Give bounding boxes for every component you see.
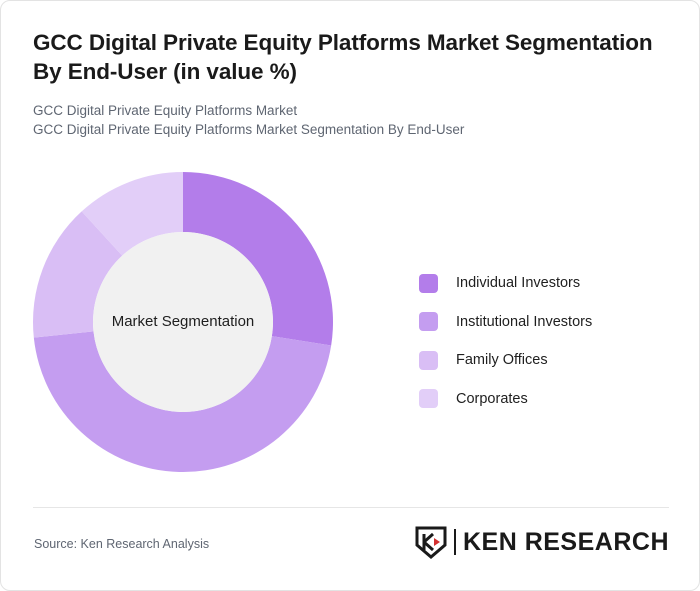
ken-research-logo: KEN RESEARCH xyxy=(414,525,669,559)
chart-card: GCC Digital Private Equity Platforms Mar… xyxy=(0,0,700,591)
legend-swatch xyxy=(419,312,438,331)
subtitle-block: GCC Digital Private Equity Platforms Mar… xyxy=(33,101,653,140)
chart-subtitle-line-1: GCC Digital Private Equity Platforms Mar… xyxy=(33,101,653,121)
donut-chart: Market Segmentation xyxy=(25,170,365,490)
page-title: GCC Digital Private Equity Platforms Mar… xyxy=(33,29,653,87)
ken-shield-icon xyxy=(414,525,448,559)
legend-swatch xyxy=(419,351,438,370)
legend-item[interactable]: Family Offices xyxy=(419,341,592,380)
footer-divider xyxy=(33,507,669,508)
legend-item[interactable]: Institutional Investors xyxy=(419,303,592,342)
logo-divider xyxy=(454,529,456,555)
legend-item-label: Institutional Investors xyxy=(456,314,592,330)
legend-item-label: Individual Investors xyxy=(456,275,580,291)
source-note: Source: Ken Research Analysis xyxy=(34,537,209,551)
chart-header: GCC Digital Private Equity Platforms Mar… xyxy=(33,29,653,140)
legend-item[interactable]: Individual Investors xyxy=(419,264,592,303)
chart-subtitle-line-2: GCC Digital Private Equity Platforms Mar… xyxy=(33,120,653,140)
legend-swatch xyxy=(419,274,438,293)
legend-swatch xyxy=(419,389,438,408)
donut-center-label: Market Segmentation xyxy=(112,313,255,330)
brand-wordmark: KEN RESEARCH xyxy=(463,528,669,557)
plot-area: Market Segmentation Individual Investors… xyxy=(1,161,700,501)
chart-legend: Individual InvestorsInstitutional Invest… xyxy=(419,264,592,418)
legend-item-label: Family Offices xyxy=(456,352,548,368)
legend-item[interactable]: Corporates xyxy=(419,380,592,419)
legend-item-label: Corporates xyxy=(456,391,528,407)
